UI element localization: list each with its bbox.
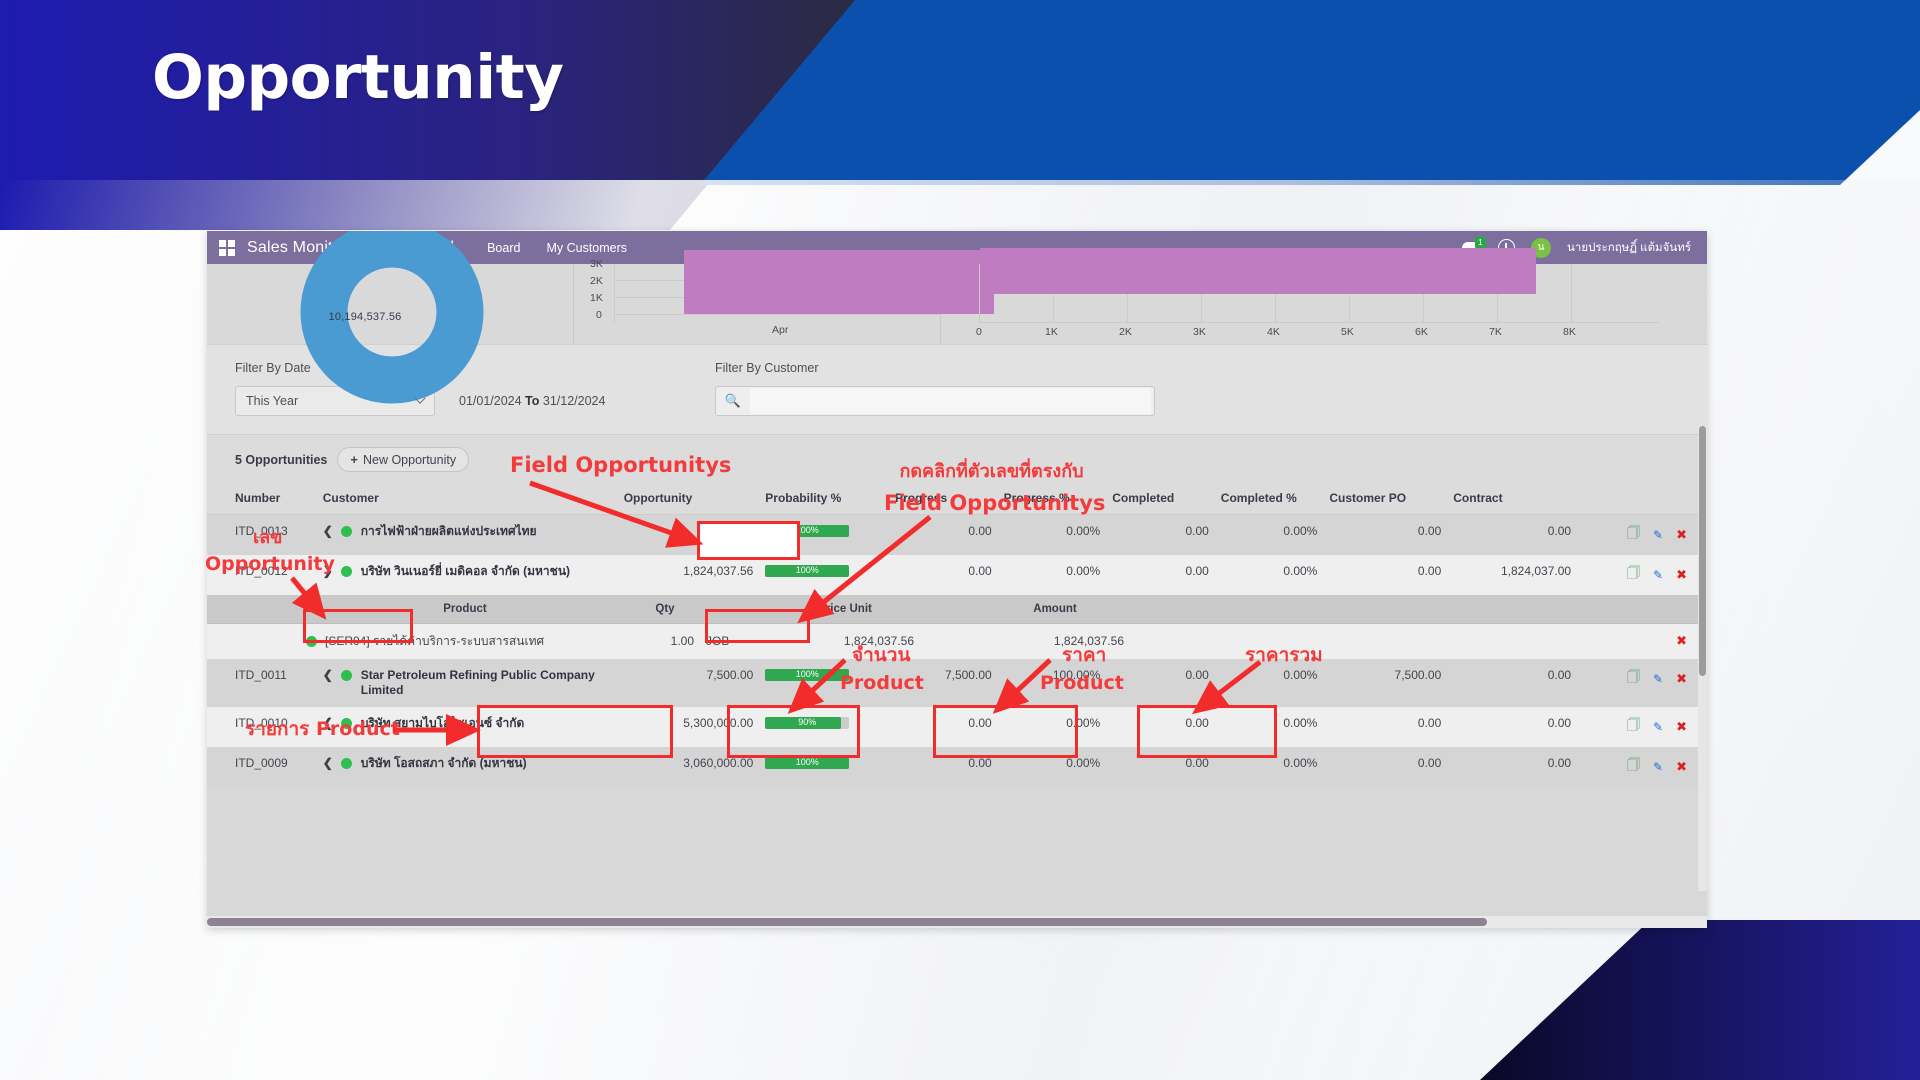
status-dot: [341, 526, 352, 537]
cell-opportunity[interactable]: 7,500.00: [618, 659, 760, 707]
hbar-xtick-0: 0: [976, 326, 982, 338]
product-cell-qty: 1.00: [630, 624, 700, 660]
copy-icon[interactable]: 🗍: [1627, 668, 1640, 690]
app-nav: Board My Customers: [487, 241, 627, 255]
copy-icon[interactable]: 🗍: [1627, 564, 1640, 586]
hbar-bar-1[interactable]: [980, 248, 1536, 294]
cell-contract: 1,824,037.00: [1447, 555, 1577, 595]
cell-customer-po: 0.00: [1323, 555, 1447, 595]
product-name: [SER04] รายได้ค่าบริการ-ระบบสารสนเทศ: [325, 634, 544, 649]
expand-caret-icon[interactable]: ❮: [323, 756, 332, 770]
new-opportunity-button[interactable]: + New Opportunity: [337, 447, 469, 472]
customer-search-input[interactable]: [750, 388, 1151, 414]
filter-customer-label: Filter By Customer: [715, 361, 1679, 375]
probability-value: 100%: [765, 756, 849, 769]
cell-progress: 0.00: [889, 555, 998, 595]
hbar-xtick-3k: 3K: [1193, 326, 1206, 338]
col-contract[interactable]: Contract: [1447, 482, 1577, 515]
annotation-price-line1: ราคา: [1062, 644, 1106, 668]
cell-progress-pct: 0.00%: [998, 707, 1107, 747]
table-row[interactable]: ITD_0009 ❮ บริษัท โอสถสภา จำกัด (มหาชน) …: [207, 747, 1707, 787]
probability-bar: 100%: [765, 525, 849, 537]
col-ytick-1k: 1K: [590, 292, 603, 304]
product-cell-gap: [920, 624, 980, 660]
cell-customer[interactable]: ❮ Star Petroleum Refining Public Company…: [317, 659, 618, 707]
col-number[interactable]: Number: [207, 482, 317, 515]
pencil-icon[interactable]: ✎: [1653, 720, 1663, 734]
app-window: Sales Monitoring Dashboard Board My Cust…: [207, 231, 1707, 928]
table-row[interactable]: ITD_0011 ❮ Star Petroleum Refining Publi…: [207, 659, 1707, 707]
status-dot: [306, 636, 317, 647]
donut-chart[interactable]: 10,194,537.56: [207, 264, 574, 344]
cell-completed: 0.00: [1106, 707, 1215, 747]
opportunity-table: Number Customer Opportunity Probability …: [207, 482, 1707, 787]
cell-actions: 🗍 ✎ ✖: [1577, 747, 1707, 787]
customer-name: การไฟฟ้าฝ่ายผลิตแห่งประเทศไทย: [361, 524, 537, 539]
col-axis-x: [614, 314, 941, 315]
product-col-uom: [700, 595, 770, 624]
opportunity-count: 5 Opportunities: [235, 453, 327, 467]
probability-value: 100%: [765, 668, 849, 681]
new-opportunity-label: New Opportunity: [363, 453, 456, 467]
product-cell-spacer: [207, 624, 300, 660]
annotation-opportunity-number-line1: เลข: [253, 527, 283, 550]
col-xtick-apr: Apr: [772, 324, 788, 336]
col-actions: [1577, 482, 1707, 515]
col-completed[interactable]: Completed: [1106, 482, 1215, 515]
cell-progress-pct: 0.00%: [998, 747, 1107, 787]
col-completed-pct[interactable]: Completed %: [1215, 482, 1324, 515]
hbar-xtick-5k: 5K: [1341, 326, 1354, 338]
hbar-grid-8k: [1571, 264, 1572, 322]
pencil-icon[interactable]: ✎: [1653, 760, 1663, 774]
hbar-xtick-2k: 2K: [1119, 326, 1132, 338]
table-row[interactable]: ITD_0013 ❮ การไฟฟ้าฝ่ายผลิตแห่งประเทศไทย…: [207, 515, 1707, 556]
subtable-row: Product Qty Price Unit Amount: [207, 595, 1707, 659]
cell-customer-po: 0.00: [1323, 707, 1447, 747]
cell-probability: 100%: [759, 515, 889, 556]
pencil-icon[interactable]: ✎: [1653, 528, 1663, 542]
probability-bar: 90%: [765, 717, 849, 729]
probability-value: 100%: [765, 524, 849, 537]
cell-customer-po: 7,500.00: [1323, 659, 1447, 707]
cell-number[interactable]: ITD_0009: [207, 747, 317, 787]
cell-probability: 90%: [759, 707, 889, 747]
close-icon[interactable]: ✖: [1676, 528, 1687, 543]
product-col-gap: [920, 595, 980, 624]
product-header-row: Product Qty Price Unit Amount: [207, 595, 1707, 624]
cell-opportunity[interactable]: 5,300,000.00: [618, 707, 760, 747]
cell-contract: 0.00: [1447, 707, 1577, 747]
slide-canvas: Opportunity Sales Monitoring Dashboard B…: [0, 0, 1920, 1080]
cell-customer-po: 0.00: [1323, 515, 1447, 556]
vertical-scrollbar[interactable]: [1698, 426, 1707, 891]
col-opportunity[interactable]: Opportunity: [618, 482, 760, 515]
cell-completed-pct: 0.00%: [1215, 555, 1324, 595]
annotation-click-number-line2: Field Opportunitys: [884, 490, 1099, 516]
annotation-opportunity-number-line2: Opportunity: [205, 553, 335, 577]
table-row[interactable]: ITD_0012 ❯ บริษัท วินเนอร์ยี่ เมดิคอล จำ…: [207, 555, 1707, 595]
cell-actions: 🗍 ✎ ✖: [1577, 555, 1707, 595]
copy-icon[interactable]: 🗍: [1627, 524, 1640, 546]
probability-bar: 100%: [765, 757, 849, 769]
customer-name: บริษัท โอสถสภา จำกัด (มหาชน): [361, 756, 527, 771]
cell-contract: 0.00: [1447, 659, 1577, 707]
cell-actions: 🗍 ✎ ✖: [1577, 659, 1707, 707]
apps-grid-icon[interactable]: [219, 240, 235, 256]
product-col-qty[interactable]: Qty: [630, 595, 700, 624]
hbar-xtick-1k: 1K: [1045, 326, 1058, 338]
probability-value: 90%: [765, 716, 849, 729]
annotation-field-opportunitys-1: Field Opportunitys: [510, 452, 731, 478]
hbar-chart[interactable]: 0 1K 2K 3K 4K 5K 6K 7K 8K: [941, 264, 1707, 344]
annotation-click-number-line1: กดคลิกที่ตัวเลขที่ตรงกับ: [884, 461, 1099, 484]
product-cell-uom: JOB: [700, 624, 770, 660]
close-icon[interactable]: ✖: [1676, 720, 1687, 735]
cell-progress: 0.00: [889, 515, 998, 556]
cell-progress: 0.00: [889, 707, 998, 747]
cell-probability: 100%: [759, 747, 889, 787]
cell-probability: 100%: [759, 555, 889, 595]
copy-icon[interactable]: 🗍: [1627, 756, 1640, 778]
hbar-xtick-6k: 6K: [1415, 326, 1428, 338]
cell-actions: 🗍 ✎ ✖: [1577, 707, 1707, 747]
filter-by-customer: Filter By Customer 🔍: [715, 361, 1679, 416]
messages-badge: 1: [1475, 237, 1486, 248]
decor-shape-blue: [700, 0, 1920, 185]
column-chart[interactable]: 3K 2K 1K 0 Apr: [574, 264, 941, 344]
cell-customer-po: 0.00: [1323, 747, 1447, 787]
search-icon: 🔍: [716, 394, 750, 409]
col-customer[interactable]: Customer: [317, 482, 618, 515]
status-dot: [341, 566, 352, 577]
probability-bar: 100%: [765, 565, 849, 577]
cell-completed-pct: 0.00%: [1215, 515, 1324, 556]
cell-contract: 0.00: [1447, 747, 1577, 787]
annotation-price-line2: Product: [1040, 672, 1124, 696]
horizontal-scrollbar[interactable]: [207, 916, 1707, 928]
annotation-total-price: ราคารวม: [1245, 644, 1323, 668]
product-col-amount[interactable]: Amount: [980, 595, 1130, 624]
cell-opportunity[interactable]: 1,824,037.56: [618, 555, 760, 595]
product-cell-amount: 1,824,037.56: [980, 624, 1130, 660]
cell-opportunity[interactable]: 1,500.00: [618, 515, 760, 556]
customer-search-box[interactable]: 🔍: [715, 386, 1155, 416]
probability-bar: 100%: [765, 669, 849, 681]
product-cell-name[interactable]: [SER04] รายได้ค่าบริการ-ระบบสารสนเทศ: [300, 624, 630, 660]
cell-customer[interactable]: ❮ บริษัท โอสถสภา จำกัด (มหาชน): [317, 747, 618, 787]
customer-name: บริษัท วินเนอร์ยี่ เมดิคอล จำกัด (มหาชน): [361, 564, 570, 579]
dashboard-charts: 10,194,537.56 3K 2K 1K 0 Apr: [207, 264, 1707, 345]
table-row[interactable]: ITD_0010 ❮ บริษัท สยามไบโอไซเอนซ์ จำกัด …: [207, 707, 1707, 747]
cell-customer[interactable]: ❮ การไฟฟ้าฝ่ายผลิตแห่งประเทศไทย: [317, 515, 618, 556]
expand-caret-icon[interactable]: ❮: [323, 668, 332, 682]
cell-progress-pct: 0.00%: [998, 555, 1107, 595]
probability-value: 100%: [765, 564, 849, 577]
nav-item-my-customers[interactable]: My Customers: [546, 241, 627, 255]
nav-item-board[interactable]: Board: [487, 241, 520, 255]
cell-customer[interactable]: ❯ บริษัท วินเนอร์ยี่ เมดิคอล จำกัด (มหาช…: [317, 555, 618, 595]
cell-progress: 0.00: [889, 747, 998, 787]
product-row[interactable]: [SER04] รายได้ค่าบริการ-ระบบสารสนเทศ 1.0…: [207, 624, 1707, 660]
hbar-axis-x: [979, 322, 1659, 323]
annotation-qty-line2: Product: [840, 672, 924, 696]
cell-actions: 🗍 ✎ ✖: [1577, 515, 1707, 556]
cell-completed-pct: 0.00%: [1215, 747, 1324, 787]
hbar-xtick-4k: 4K: [1267, 326, 1280, 338]
cell-contract: 0.00: [1447, 515, 1577, 556]
annotation-product-list: รายการ Product: [245, 718, 400, 742]
cell-completed: 0.00: [1106, 515, 1215, 556]
product-table: Product Qty Price Unit Amount: [207, 595, 1707, 659]
cell-opportunity[interactable]: 3,060,000.00: [618, 747, 760, 787]
copy-icon[interactable]: 🗍: [1627, 716, 1640, 738]
col-ytick-2k: 2K: [590, 275, 603, 287]
product-col-spacer: [207, 595, 300, 624]
col-ytick-0: 0: [596, 309, 602, 321]
donut-value-label: 10,194,537.56: [207, 311, 573, 323]
subtable-container: Product Qty Price Unit Amount: [207, 595, 1707, 659]
customer-name: Star Petroleum Refining Public Company L…: [361, 668, 612, 698]
hbar-xtick-7k: 7K: [1489, 326, 1502, 338]
annotation-qty-line1: จำนวน: [852, 644, 910, 668]
status-dot: [341, 758, 352, 769]
opportunity-list: 5 Opportunities + New Opportunity Number…: [207, 435, 1707, 787]
user-name[interactable]: นายประกฤษฏิ์ แต้มจันทร์: [1567, 239, 1691, 257]
pencil-icon[interactable]: ✎: [1653, 672, 1663, 686]
hbar-xtick-8k: 8K: [1563, 326, 1576, 338]
pencil-icon[interactable]: ✎: [1653, 568, 1663, 582]
expand-caret-icon[interactable]: ❮: [323, 524, 332, 538]
close-icon[interactable]: ✖: [1676, 634, 1687, 649]
col-ytick-3k: 3K: [590, 258, 603, 270]
product-cell-actions: ✖: [1130, 624, 1707, 660]
close-icon[interactable]: ✖: [1676, 568, 1687, 583]
close-icon[interactable]: ✖: [1676, 760, 1687, 775]
cell-progress-pct: 0.00%: [998, 515, 1107, 556]
close-icon[interactable]: ✖: [1676, 672, 1687, 687]
page-title: Opportunity: [152, 42, 564, 113]
cell-completed: 0.00: [1106, 555, 1215, 595]
date-to-word: To: [525, 394, 539, 408]
plus-icon: +: [350, 452, 358, 467]
cell-completed-pct: 0.00%: [1215, 707, 1324, 747]
status-dot: [341, 670, 352, 681]
cell-completed: 0.00: [1106, 747, 1215, 787]
product-col-product[interactable]: Product: [300, 595, 630, 624]
period-select-value: This Year: [246, 394, 298, 408]
col-customer-po[interactable]: Customer PO: [1323, 482, 1447, 515]
date-to: 31/12/2024: [543, 394, 606, 408]
col-probability[interactable]: Probability %: [759, 482, 889, 515]
product-col-price-unit[interactable]: Price Unit: [770, 595, 920, 624]
cell-number[interactable]: ITD_0011: [207, 659, 317, 707]
product-col-actions: [1130, 595, 1707, 624]
